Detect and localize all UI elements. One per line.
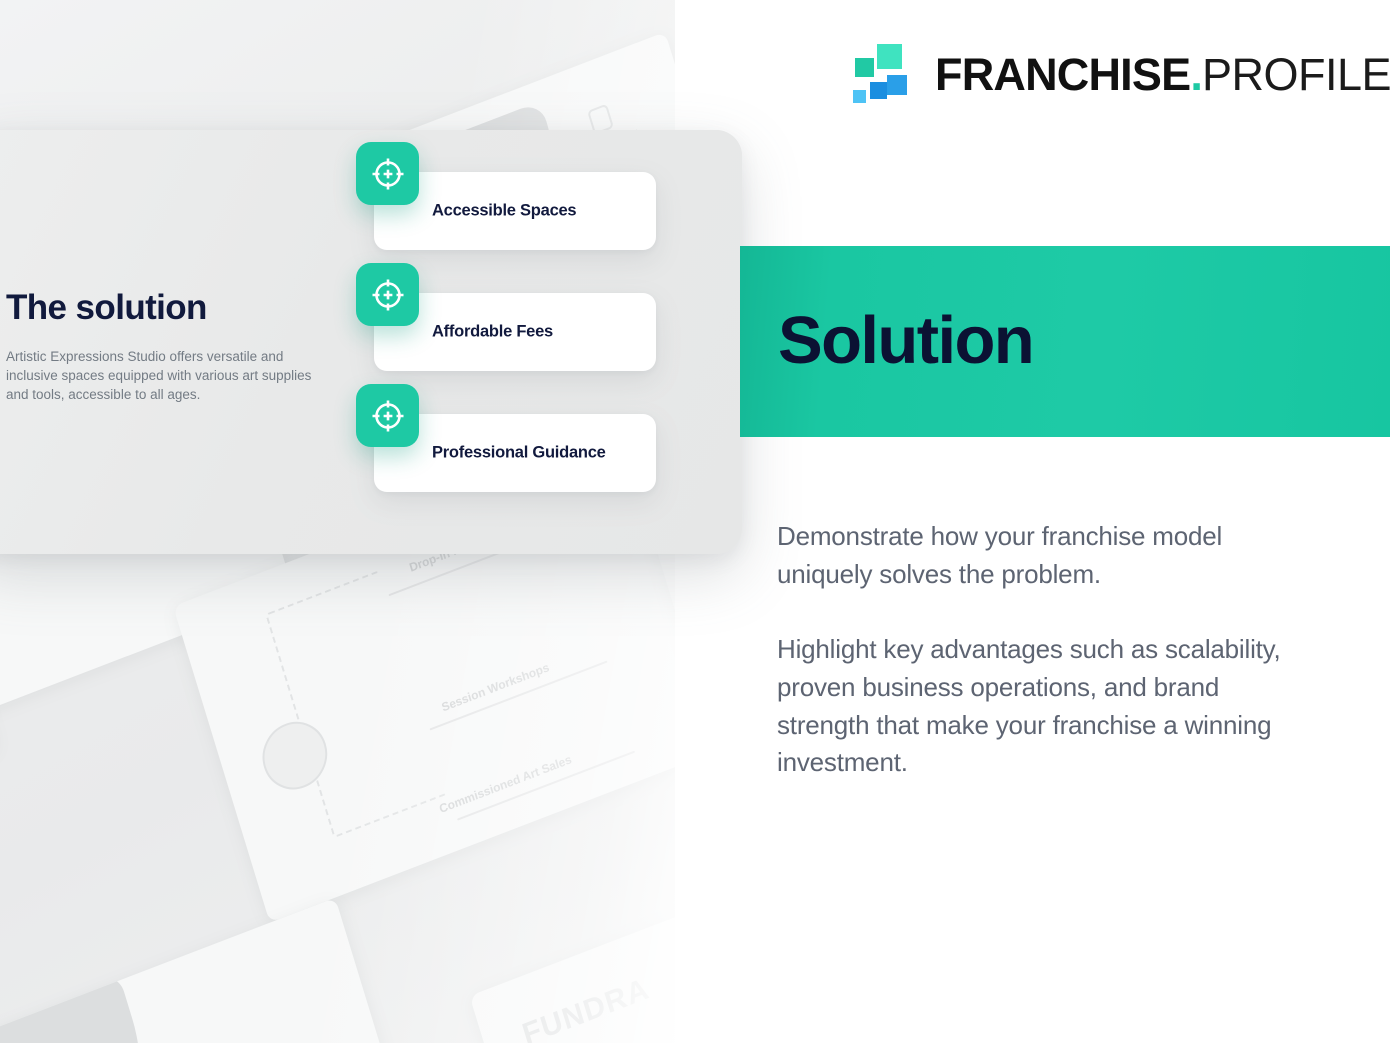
slide-page: pitch deck THE PROBLEM Many individuals … (0, 0, 1390, 1043)
slide-preview-subtitle: Artistic Expressions Studio offers versa… (6, 347, 318, 404)
feature-item-affordable-fees[interactable]: Affordable Fees (374, 293, 656, 371)
franchise-profiles-logo[interactable]: FRANCHISE . PROFILES (851, 44, 1390, 106)
logo-word-franchise: FRANCHISE (935, 49, 1190, 101)
feature-item-professional-guidance[interactable]: Professional Guidance (374, 414, 656, 492)
feature-label: Affordable Fees (432, 323, 553, 342)
feature-item-accessible-spaces[interactable]: Accessible Spaces (374, 172, 656, 250)
logo-mark-icon (851, 44, 913, 106)
crosshair-icon (356, 142, 419, 205)
backdrop-slide-traction: TRACTION Significant milestones demonstr… (0, 898, 426, 1043)
slide-preview-title: The solution (6, 290, 336, 327)
logo-word-profiles: PROFILES (1202, 49, 1390, 101)
slide-preview-card[interactable]: The solution Artistic Expressions Studio… (0, 130, 742, 554)
crosshair-icon (356, 263, 419, 326)
section-description: Demonstrate how your franchise model uni… (777, 518, 1317, 782)
feature-label: Professional Guidance (432, 444, 606, 463)
backdrop-slide-fundraising: FUNDRA Securing ... (470, 828, 675, 1043)
backdrop-model-item-2: Commissioned Art Sales (438, 752, 574, 816)
section-title-band: Solution (740, 246, 1390, 437)
feature-label: Accessible Spaces (432, 202, 576, 221)
page-title: Solution (778, 307, 1033, 374)
logo-wordmark: FRANCHISE . PROFILES (935, 49, 1390, 101)
crosshair-icon (356, 384, 419, 447)
slide-preview-surface: The solution Artistic Expressions Studio… (0, 130, 742, 554)
slide-preview-headline-block: The solution Artistic Expressions Studio… (6, 290, 336, 404)
section-paragraph-1: Demonstrate how your franchise model uni… (777, 518, 1317, 593)
logo-word-dot: . (1190, 49, 1202, 101)
section-paragraph-2: Highlight key advantages such as scalabi… (777, 631, 1317, 782)
